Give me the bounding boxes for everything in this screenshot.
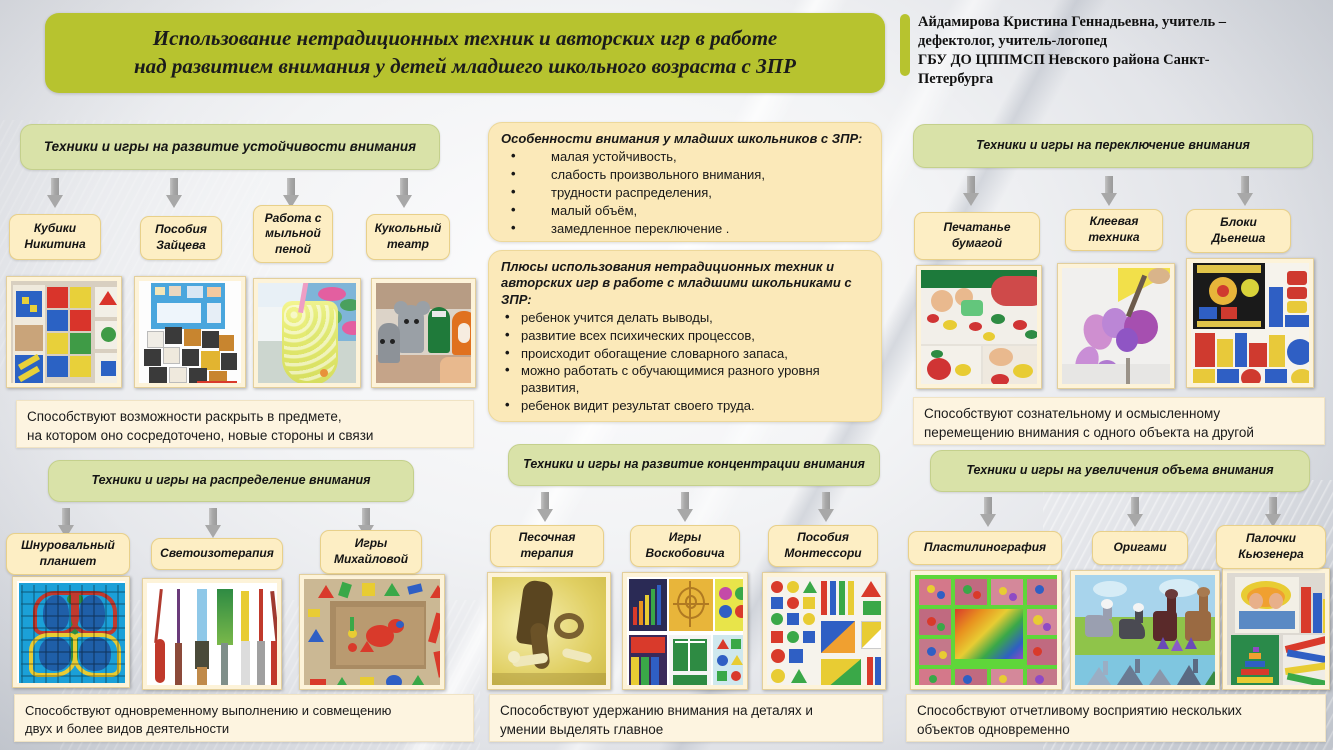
caption-stability: Способствуют возможности раскрыть в пред… <box>16 400 474 448</box>
panel-advantages: Плюсы использования нетрадиционных техни… <box>488 250 882 422</box>
arrow-stability-2 <box>166 178 182 208</box>
author-line1: Айдамирова Кристина Геннадьевна, учитель… <box>918 13 1328 32</box>
section-header-stability[interactable]: Техники и игры на развитие устойчивости … <box>20 124 440 170</box>
item-label-origami[interactable]: Оригами <box>1092 531 1188 565</box>
item-label-light-therapy[interactable]: Светоизотерапия <box>151 538 283 570</box>
arrow-volume-3 <box>1265 497 1281 527</box>
list-item: •малый объём, <box>501 203 869 220</box>
section-header-volume[interactable]: Техники и игры на увеличения объема вним… <box>930 450 1310 492</box>
arrow-switching-3 <box>1237 176 1253 206</box>
origami-photo <box>1070 570 1220 690</box>
panel-attention-features-title: Особенности внимания у младших школьнико… <box>501 131 869 147</box>
section-header-switching[interactable]: Техники и игры на переключение внимания <box>913 124 1313 168</box>
poster-title-line2: над развитием внимания у детей младшего … <box>134 53 796 81</box>
arrow-switching-1 <box>963 176 979 206</box>
arrow-stability-3 <box>283 178 299 208</box>
item-label-paper-printing[interactable]: Печатанье бумагой <box>914 212 1040 260</box>
caption-concentration: Способствуют удержанию внимания на детал… <box>489 694 883 742</box>
list-item: •слабость произвольного внимания, <box>501 167 869 184</box>
arrow-volume-2 <box>1127 497 1143 527</box>
bullet-glyph: • <box>511 184 516 201</box>
arrow-stability-1 <box>47 178 63 208</box>
arrow-stability-4 <box>396 178 412 208</box>
list-item: •ребенок видит результат своего труда. <box>501 398 869 415</box>
item-label-puppet-theatre[interactable]: Кукольный театр <box>366 214 450 260</box>
poster-canvas: Использование нетрадиционных техник и ав… <box>0 0 1333 750</box>
arrow-volume-1 <box>980 497 996 527</box>
arrow-concentration-2 <box>677 492 693 522</box>
list-item: •происходит обогащение словарного запаса… <box>501 346 869 363</box>
poster-title-line1: Использование нетрадиционных техник и ав… <box>134 25 796 53</box>
item-label-glue-technique[interactable]: Клеевая техника <box>1065 209 1163 251</box>
caption-distribution: Способствуют одновременному выполнению и… <box>14 694 474 742</box>
panel-attention-features: Особенности внимания у младших школьнико… <box>488 122 882 242</box>
plasticine-art-photo <box>910 570 1062 690</box>
bullet-glyph: • <box>505 397 510 414</box>
zaitsev-cubes-photo <box>134 276 246 388</box>
bullet-glyph: • <box>505 362 510 379</box>
item-label-cuisenaire-rods[interactable]: Палочки Кьюзенера <box>1216 525 1326 569</box>
dienes-blocks-photo <box>1186 258 1314 388</box>
item-label-montessori-materials[interactable]: Пособия Монтессори <box>768 525 878 567</box>
caption-switching: Способствуют сознательному и осмысленном… <box>913 397 1325 445</box>
author-line4: Петербурга <box>918 70 1328 89</box>
list-item: •замедленное переключение . <box>501 221 869 238</box>
soap-foam-photo <box>253 278 361 388</box>
bullet-glyph: • <box>505 309 510 326</box>
item-label-mikhailova-games[interactable]: Игры Михайловой <box>320 530 422 574</box>
author-accent-bar <box>900 14 910 76</box>
puppet-theatre-photo <box>371 278 476 388</box>
sand-therapy-photo <box>487 572 611 690</box>
mikhailova-games-photo <box>299 574 445 690</box>
arrow-concentration-3 <box>818 492 834 522</box>
author-line3: ГБУ ДО ЦППМСП Невского района Санкт- <box>918 51 1328 70</box>
item-label-nikitin-cubes[interactable]: Кубики Никитина <box>9 214 101 260</box>
bullet-glyph: • <box>505 327 510 344</box>
list-item: •ребенок учится делать выводы, <box>501 310 869 327</box>
voskobovich-games-photo <box>622 572 748 690</box>
nikitin-cubes-photo <box>6 276 122 388</box>
item-label-voskobovich-games[interactable]: Игры Воскобовича <box>630 525 740 567</box>
lacing-board-photo <box>12 576 130 688</box>
paper-printing-photo <box>916 265 1042 389</box>
list-item: •малая устойчивость, <box>501 149 869 166</box>
list-item: •трудности распределения, <box>501 185 869 202</box>
item-label-lacing-board[interactable]: Шнуровальный планшет <box>6 533 130 575</box>
bullet-glyph: • <box>511 148 516 165</box>
item-label-plasticine-art[interactable]: Пластилинография <box>908 531 1062 565</box>
item-label-dienes-blocks[interactable]: Блоки Дьенеша <box>1186 209 1291 253</box>
item-label-sand-therapy[interactable]: Песочная терапия <box>490 525 604 567</box>
author-line2: дефектолог, учитель-логопед <box>918 32 1328 51</box>
glue-technique-photo <box>1057 263 1175 389</box>
light-therapy-photo <box>142 578 282 690</box>
item-label-zaitsev-aids[interactable]: Пособия Зайцева <box>140 216 222 260</box>
caption-volume: Способствуют отчетливому восприятию неск… <box>906 694 1326 742</box>
panel-attention-features-list: •малая устойчивость, •слабость произволь… <box>501 149 869 237</box>
arrow-concentration-1 <box>537 492 553 522</box>
bullet-glyph: • <box>511 220 516 237</box>
item-label-soap-foam[interactable]: Работа с мыльной пеной <box>253 205 333 263</box>
arrow-distribution-2 <box>205 508 221 538</box>
poster-title-banner: Использование нетрадиционных техник и ав… <box>45 13 885 93</box>
section-header-concentration[interactable]: Техники и игры на развитие концентрации … <box>508 444 880 486</box>
list-item: •развитие всех психических процессов, <box>501 328 869 345</box>
list-item: •можно работать с обучающимися разного у… <box>501 363 869 397</box>
bullet-glyph: • <box>511 202 516 219</box>
section-header-distribution[interactable]: Техники и игры на распределение внимания <box>48 460 414 502</box>
panel-advantages-list: •ребенок учится делать выводы, •развитие… <box>501 310 869 415</box>
montessori-materials-photo <box>762 572 886 690</box>
cuisenaire-rods-photo <box>1222 568 1330 690</box>
bullet-glyph: • <box>505 345 510 362</box>
bullet-glyph: • <box>511 166 516 183</box>
author-info: Айдамирова Кристина Геннадьевна, учитель… <box>918 13 1328 88</box>
panel-advantages-title: Плюсы использования нетрадиционных техни… <box>501 259 861 308</box>
arrow-switching-2 <box>1101 176 1117 206</box>
